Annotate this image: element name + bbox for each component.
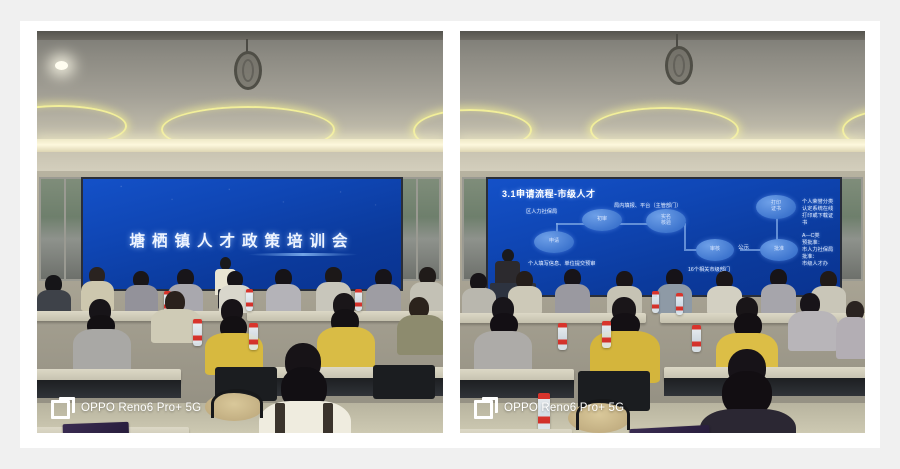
flow-edge — [684, 223, 686, 249]
water-bottle — [558, 323, 567, 350]
annotation-levels: A—C类 预批准： 市人力社保局 批准： 市级人才办 — [802, 233, 833, 268]
watermark-text: OPPO Reno6 Pro+ 5G — [504, 402, 624, 414]
headphones-icon — [211, 389, 263, 418]
annotation-submit: 个人填写信息、单位提交预审 — [528, 261, 595, 268]
banner-title: 塘栖镇人才政策培训会 — [83, 229, 401, 251]
banner-swoosh — [248, 253, 358, 256]
flow-node-apply: 申请 — [534, 231, 574, 253]
ceiling-right — [460, 31, 865, 149]
oppo-logo-icon — [51, 397, 73, 419]
annotation-certificate: 个人荣誉分类 认定系统在线 打印或下载证 书 — [802, 199, 833, 227]
pendant-light-icon — [665, 46, 693, 85]
watermark-right: OPPO Reno6 Pro+ 5G — [474, 397, 624, 419]
booklet — [63, 422, 130, 433]
desk-front-row2 — [37, 380, 181, 398]
led-screen-left: 塘栖镇人才政策培训会 — [81, 177, 403, 291]
flow-node-print: 打印 证书 — [756, 195, 796, 219]
watermark-text: OPPO Reno6 Pro+ 5G — [81, 402, 201, 414]
desk-row1 — [460, 429, 572, 433]
desk-front-row2 — [460, 380, 574, 398]
oppo-logo-icon — [474, 397, 496, 419]
photo-row: 塘栖镇人才政策培训会 — [37, 31, 865, 433]
water-bottle — [193, 319, 202, 346]
flow-node-verify: 实名 核验 — [646, 209, 686, 233]
water-bottle — [355, 289, 362, 311]
screen-texture — [83, 179, 401, 216]
photo-left[interactable]: 塘栖镇人才政策培训会 — [37, 31, 443, 433]
pendant-light-icon — [234, 51, 262, 90]
spotlight-icon — [55, 61, 68, 70]
flow-node-precheck: 初审 — [582, 209, 622, 231]
photo-card: 塘栖镇人才政策培训会 — [20, 21, 880, 448]
annotation-hr-bureau: 区人力社保局 — [526, 209, 557, 216]
chair-back — [373, 365, 435, 399]
watermark-left: OPPO Reno6 Pro+ 5G — [51, 397, 201, 419]
flow-node-approve: 批准 — [760, 239, 798, 261]
cove-light-strip — [37, 139, 443, 152]
ceiling-beam — [37, 31, 443, 40]
ceiling-beam — [460, 31, 865, 40]
photo-right[interactable]: 3.1申请流程-市级人才 申请 初审 实名 核验 审核 — [460, 31, 865, 433]
flow-node-review: 审核 — [696, 239, 734, 261]
slide-title: 3.1申请流程-市级人才 — [502, 187, 596, 200]
page-root: 塘栖镇人才政策培训会 — [0, 0, 900, 469]
water-bottle — [692, 325, 701, 352]
presentation-screen-right: 3.1申请流程-市级人才 申请 初审 实名 核验 审核 — [486, 177, 842, 297]
water-bottle — [246, 289, 253, 311]
room-left: 塘栖镇人才政策培训会 — [37, 171, 443, 433]
water-bottle — [602, 321, 611, 348]
room-right: 3.1申请流程-市级人才 申请 初审 实名 核验 审核 — [460, 171, 865, 433]
water-bottle — [652, 291, 659, 313]
desk-row3 — [37, 311, 233, 321]
water-bottle — [676, 293, 683, 315]
water-bottle — [249, 323, 258, 350]
annotation-platform: 局内填报、平台（主管部门） — [614, 203, 681, 210]
ceiling-left — [37, 31, 443, 149]
cove-light-strip — [460, 139, 865, 152]
edge-label-publicity: 公示 — [738, 245, 749, 252]
